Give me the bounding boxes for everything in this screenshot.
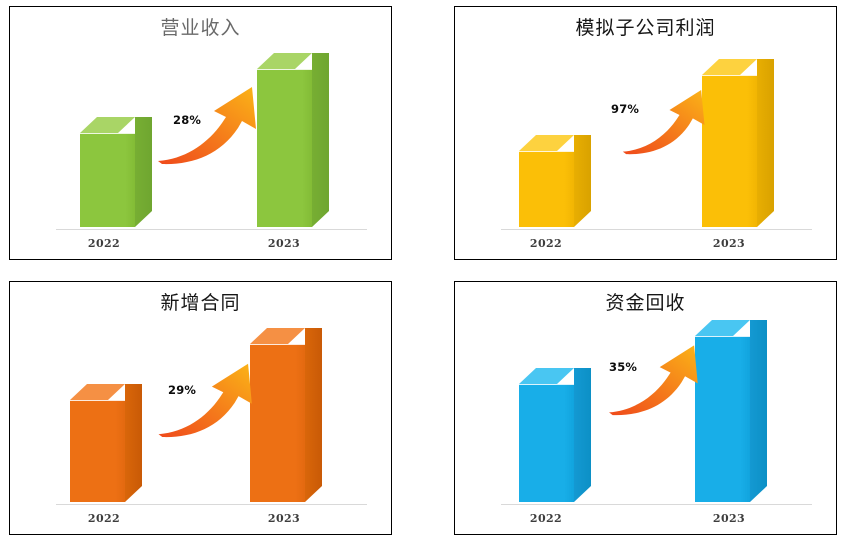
growth-percentage: 29% [168,383,196,397]
bar-2022[interactable] [80,133,135,227]
bar-front-face [80,133,135,227]
category-label-2022: 2022 [511,237,581,250]
bar-2022[interactable] [519,384,574,502]
bar-front-face [70,400,125,502]
chart-panel-revenue[interactable]: 营业收入 [9,6,392,260]
category-label-2023: 2023 [249,512,319,525]
bar-side-face [135,117,152,227]
bar-2022[interactable] [519,151,574,227]
growth-arrow-icon [156,358,262,438]
growth-percentage: 28% [173,113,201,127]
bar-side-face [574,135,591,227]
bar-side-face [750,320,767,502]
chart-panel-new-contracts[interactable]: 新增合同 [9,281,392,535]
plot-area: 97% 2022 2023 [455,7,836,259]
chart-panel-cash-recovery[interactable]: 资金回收 [454,281,837,535]
bar-2022[interactable] [70,400,125,502]
category-label-2023: 2023 [694,512,764,525]
axis-baseline [501,504,812,505]
category-label-2022: 2022 [511,512,581,525]
bar-side-face [125,384,142,502]
plot-area: 29% 2022 2023 [10,282,391,534]
bar-side-face [574,368,591,502]
plot-area: 35% 2022 2023 [455,282,836,534]
growth-percentage: 35% [609,360,637,374]
bar-top-face [257,53,312,69]
bar-front-face [519,151,574,227]
growth-percentage: 97% [611,102,639,116]
growth-arrow-icon [615,85,719,155]
bar-top-face [519,135,574,151]
growth-arrow-icon [607,340,707,416]
bar-top-face [519,368,574,384]
axis-baseline [501,229,812,230]
axis-baseline [56,229,367,230]
category-label-2023: 2023 [694,237,764,250]
bar-side-face [312,53,329,227]
bar-top-face [80,117,135,133]
category-label-2023: 2023 [249,237,319,250]
bar-side-face [305,328,322,502]
bar-top-face [695,320,750,336]
category-label-2022: 2022 [69,237,139,250]
chart-panel-subsidiary-profit[interactable]: 模拟子公司利润 [454,6,837,260]
bar-top-face [702,59,757,75]
bar-top-face [70,384,125,400]
bar-side-face [757,59,774,227]
plot-area: 28% 2022 2023 [10,7,391,259]
axis-baseline [56,504,367,505]
bar-front-face [519,384,574,502]
dashboard-board: 营业收入 [0,0,848,544]
bar-top-face [250,328,305,344]
category-label-2022: 2022 [69,512,139,525]
